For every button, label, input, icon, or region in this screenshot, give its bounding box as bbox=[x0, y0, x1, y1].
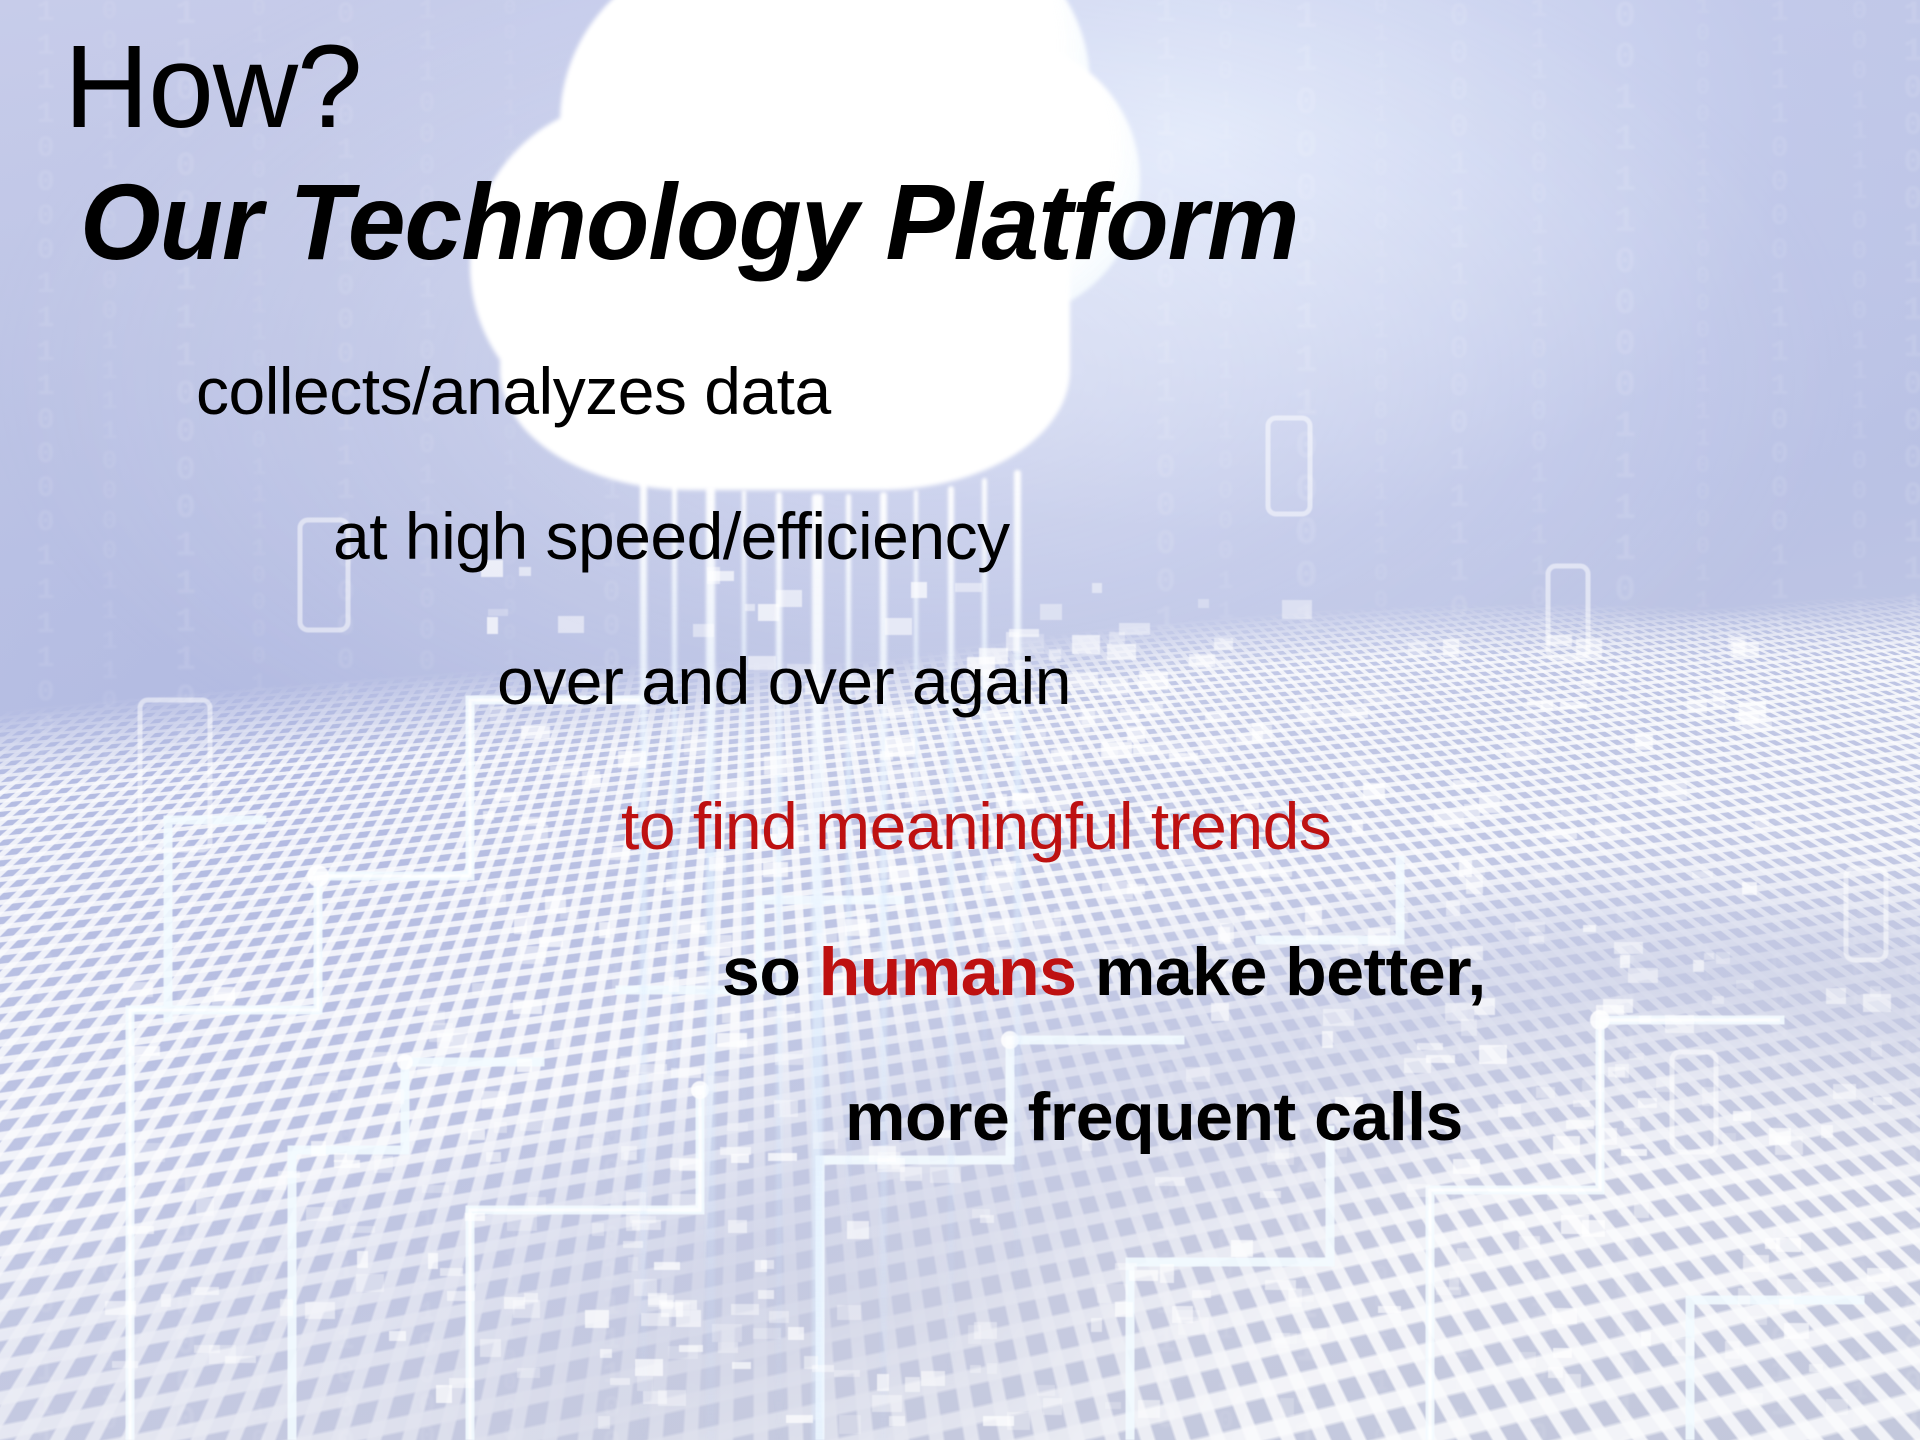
body-line-collects: collects/analyzes data bbox=[196, 358, 831, 424]
body-line-repetition: over and over again bbox=[497, 648, 1071, 714]
closing-text-highlight: humans bbox=[819, 934, 1077, 1010]
slide-content: How? Our Technology Platform collects/an… bbox=[0, 0, 1920, 1440]
closing-text-prefix: so bbox=[722, 934, 819, 1010]
slide-subtitle: Our Technology Platform bbox=[80, 168, 1298, 276]
closing-line-one: so humans make better, bbox=[722, 938, 1486, 1006]
body-line-trends: to find meaningful trends bbox=[621, 793, 1331, 859]
page-title: How? bbox=[64, 28, 362, 146]
presentation-slide: 0011110000111100001111000011110000111100… bbox=[0, 0, 1920, 1440]
closing-line-two: more frequent calls bbox=[845, 1083, 1463, 1151]
body-line-speed: at high speed/efficiency bbox=[333, 503, 1010, 569]
closing-text-suffix: make better, bbox=[1076, 934, 1485, 1010]
